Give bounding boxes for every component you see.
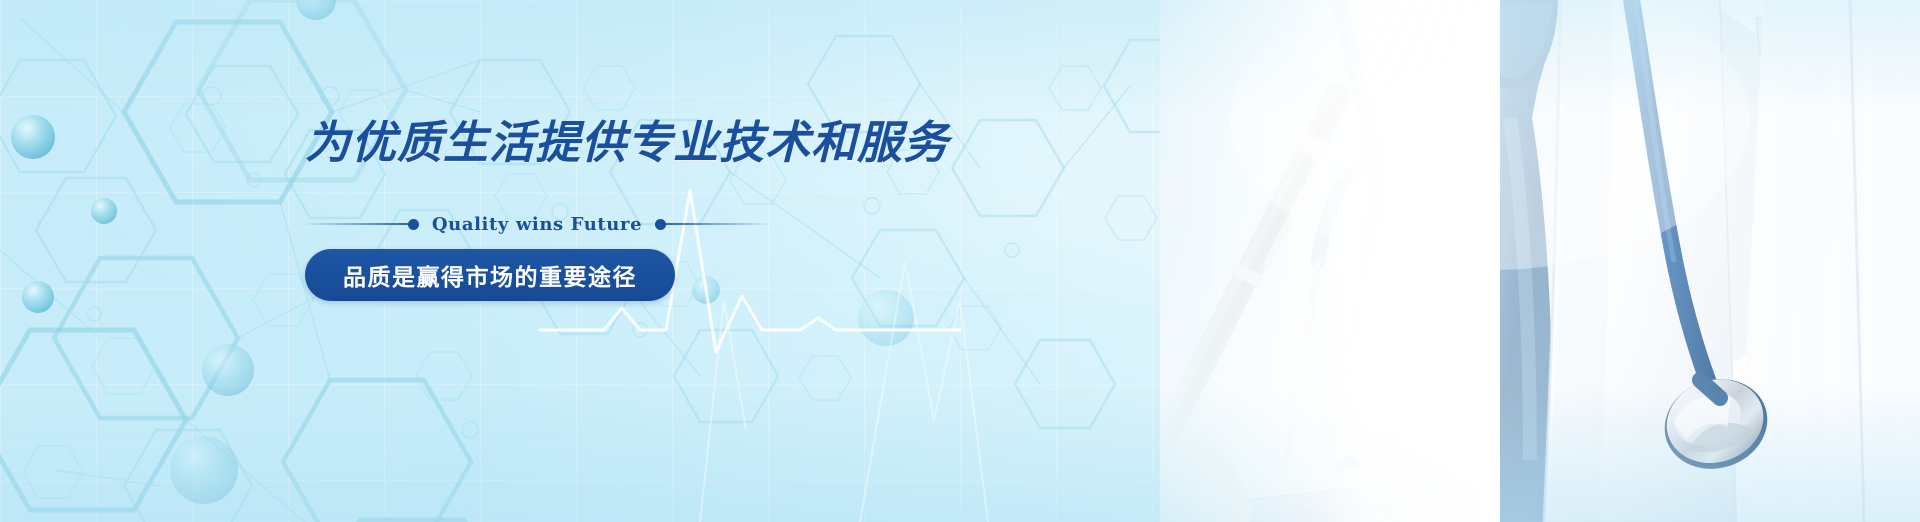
tagline-line-right (666, 223, 772, 225)
photo-left-fade (1160, 0, 1500, 522)
page-title: 为优质生活提供专业技术和服务 (305, 118, 1065, 168)
slogan-pill-label: 品质是赢得市场的重要途径 (343, 258, 637, 292)
dot-icon (655, 219, 666, 230)
banner-content: 为优质生活提供专业技术和服务 Quality wins Future 品质是赢得… (305, 118, 1065, 301)
dot-icon (408, 219, 419, 230)
tagline-en: Quality wins Future (419, 214, 655, 235)
hero-banner: 为优质生活提供专业技术和服务 Quality wins Future 品质是赢得… (0, 0, 1920, 522)
slogan-pill-button[interactable]: 品质是赢得市场的重要途径 (305, 249, 675, 301)
tagline-row: Quality wins Future (302, 214, 772, 235)
tagline-line-left (302, 223, 408, 225)
